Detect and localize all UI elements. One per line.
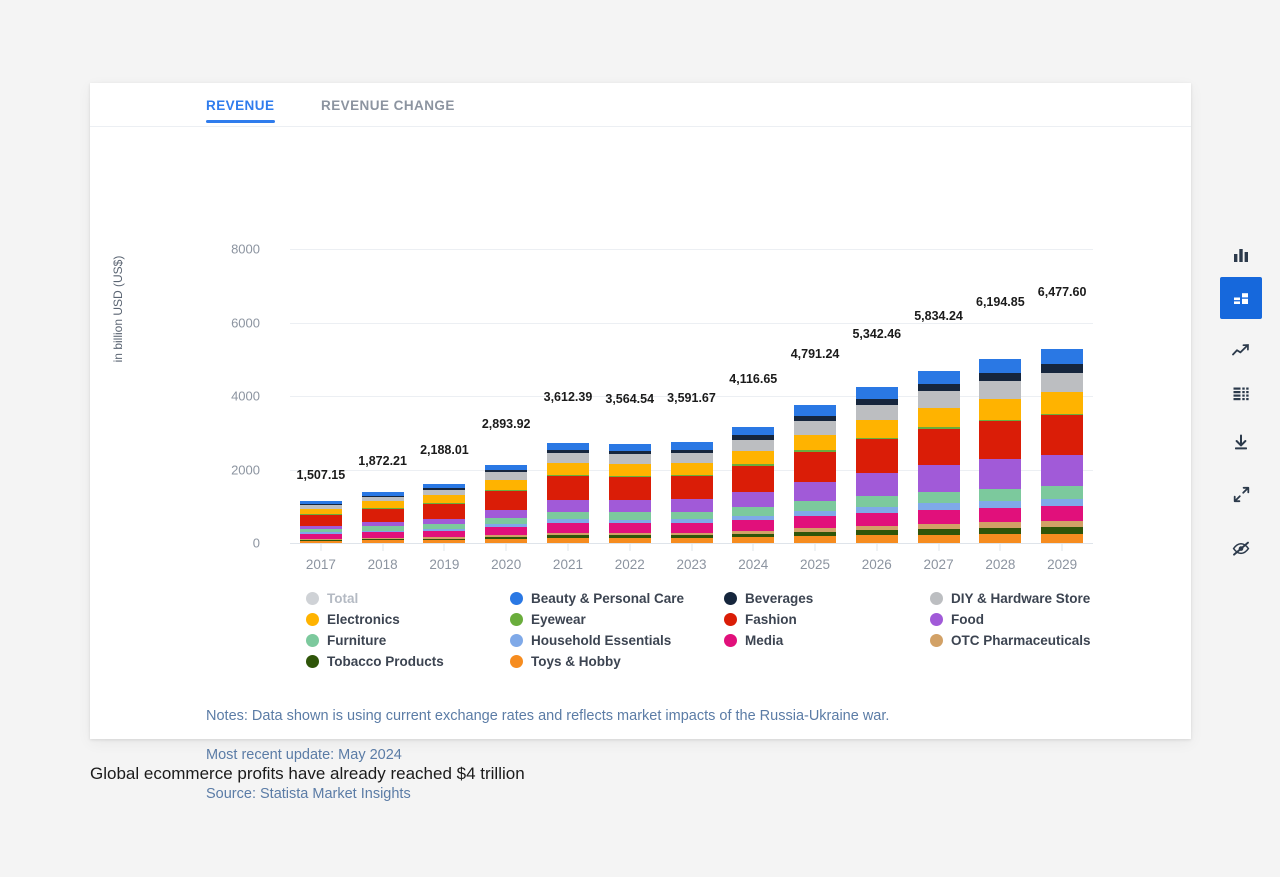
legend-swatch-icon — [510, 655, 523, 668]
bar-segment-beverages[interactable] — [979, 373, 1021, 381]
x-axis-label-2029: 2029 — [1047, 557, 1077, 572]
legend-item-beauty-personal-care[interactable]: Beauty & Personal Care — [510, 591, 684, 606]
bar-segment-diy-hardware-store[interactable] — [671, 453, 713, 463]
bar-segment-toys-hobby[interactable] — [1041, 534, 1083, 543]
legend-label: OTC Pharmaceuticals — [951, 633, 1091, 648]
legend-swatch-icon — [930, 592, 943, 605]
bar-segment-fashion[interactable] — [918, 429, 960, 465]
bar-segment-electronics[interactable] — [1041, 392, 1083, 413]
bar-segment-furniture[interactable] — [671, 512, 713, 520]
bar-total-label-2018: 1,872.21 — [358, 454, 407, 468]
bar-segment-food[interactable] — [1041, 455, 1083, 486]
bar-segment-media[interactable] — [856, 513, 898, 526]
x-axis-label-2026: 2026 — [862, 557, 892, 572]
bar-segment-media[interactable] — [794, 516, 836, 528]
bar-chart-icon — [1233, 246, 1250, 263]
bar-segment-food[interactable] — [547, 500, 589, 512]
legend-item-diy-hardware-store[interactable]: DIY & Hardware Store — [930, 591, 1090, 606]
legend-label: Household Essentials — [531, 633, 671, 648]
bar-column-2018[interactable] — [362, 249, 404, 543]
x-tick-2021 — [567, 543, 568, 551]
x-tick-2026 — [876, 543, 877, 551]
tab-active-underline — [206, 120, 275, 123]
x-tick-2028 — [1000, 543, 1001, 551]
legend-item-media[interactable]: Media — [724, 633, 783, 648]
x-axis-label-2019: 2019 — [429, 557, 459, 572]
line-chart-icon — [1232, 342, 1250, 359]
bar-segment-toys-hobby[interactable] — [979, 534, 1021, 543]
legend-label: Eyewear — [531, 612, 586, 627]
bar-segment-electronics[interactable] — [547, 463, 589, 475]
bar-segment-media[interactable] — [485, 527, 527, 536]
bar-column-2017[interactable] — [300, 249, 342, 543]
legend-label: Toys & Hobby — [531, 654, 621, 669]
legend-swatch-icon — [510, 592, 523, 605]
download-icon — [1233, 434, 1249, 451]
x-axis-label-2022: 2022 — [615, 557, 645, 572]
bar-segment-furniture[interactable] — [918, 492, 960, 503]
bar-segment-electronics[interactable] — [856, 420, 898, 437]
y-tick-6000: 6000 — [202, 315, 260, 330]
legend-label: Tobacco Products — [327, 654, 444, 669]
x-tick-2029 — [1062, 543, 1063, 551]
note-last-update: Most recent update: May 2024 — [206, 747, 889, 763]
legend-label: DIY & Hardware Store — [951, 591, 1090, 606]
bar-segment-fashion[interactable] — [423, 504, 465, 519]
x-axis-label-2018: 2018 — [368, 557, 398, 572]
bar-segment-diy-hardware-store[interactable] — [794, 421, 836, 434]
bar-segment-media[interactable] — [423, 531, 465, 538]
stacked-bar-button[interactable] — [1220, 277, 1262, 319]
legend-item-otc-pharmaceuticals[interactable]: OTC Pharmaceuticals — [930, 633, 1091, 648]
bar-total-label-2026: 5,342.46 — [852, 327, 901, 341]
bar-segment-media[interactable] — [979, 508, 1021, 523]
stacked-bar[interactable] — [671, 442, 713, 543]
legend-item-total[interactable]: Total — [306, 591, 358, 606]
y-tick-4000: 4000 — [202, 389, 260, 404]
bar-segment-fashion[interactable] — [732, 466, 774, 492]
note-source: Source: Statista Market Insights — [206, 786, 889, 802]
bar-total-label-2028: 6,194.85 — [976, 295, 1025, 309]
bar-segment-furniture[interactable] — [609, 512, 651, 520]
bar-segment-media[interactable] — [609, 523, 651, 533]
bar-segment-furniture[interactable] — [856, 496, 898, 507]
x-axis-label-2020: 2020 — [491, 557, 521, 572]
legend-swatch-icon — [306, 613, 319, 626]
legend-item-household-essentials[interactable]: Household Essentials — [510, 633, 671, 648]
legend-label: Fashion — [745, 612, 797, 627]
bar-segment-fashion[interactable] — [794, 452, 836, 482]
x-axis-label-2023: 2023 — [676, 557, 706, 572]
bar-segment-media[interactable] — [671, 523, 713, 533]
bar-segment-electronics[interactable] — [362, 501, 404, 508]
x-tick-2022 — [629, 543, 630, 551]
stacked-bar[interactable] — [856, 387, 898, 543]
stacked-bar[interactable] — [918, 371, 960, 543]
bar-segment-diy-hardware-store[interactable] — [856, 405, 898, 420]
legend-swatch-icon — [306, 655, 319, 668]
bar-segment-beauty-personal-care[interactable] — [732, 427, 774, 436]
bar-segment-media[interactable] — [1041, 506, 1083, 521]
legend-item-beverages[interactable]: Beverages — [724, 591, 813, 606]
bar-segment-beauty-personal-care[interactable] — [856, 387, 898, 399]
legend-item-furniture[interactable]: Furniture — [306, 633, 386, 648]
bar-segment-fashion[interactable] — [1041, 415, 1083, 454]
x-tick-2024 — [753, 543, 754, 551]
bar-segment-food[interactable] — [671, 499, 713, 512]
tab-revenue[interactable]: REVENUE — [206, 98, 274, 113]
bar-segment-electronics[interactable] — [609, 464, 651, 476]
bar-segment-furniture[interactable] — [794, 501, 836, 511]
stacked-bar-icon — [1233, 290, 1250, 307]
legend-item-tobacco-products[interactable]: Tobacco Products — [306, 654, 444, 669]
legend-swatch-icon — [510, 613, 523, 626]
x-axis-label-2028: 2028 — [985, 557, 1015, 572]
bar-segment-beauty-personal-care[interactable] — [671, 442, 713, 449]
bar-segment-electronics[interactable] — [423, 495, 465, 503]
bar-segment-beauty-personal-care[interactable] — [979, 359, 1021, 373]
bar-segment-beverages[interactable] — [1041, 364, 1083, 373]
chart-legend: TotalElectronicsFurnitureTobacco Product… — [90, 583, 1191, 675]
bar-segment-fashion[interactable] — [362, 509, 404, 522]
x-tick-2027 — [938, 543, 939, 551]
legend-label: Furniture — [327, 633, 386, 648]
bar-segment-electronics[interactable] — [918, 408, 960, 427]
eye-off-icon — [1232, 541, 1250, 556]
bar-segment-food[interactable] — [794, 482, 836, 502]
legend-item-eyewear[interactable]: Eyewear — [510, 612, 586, 627]
bar-segment-food[interactable] — [918, 465, 960, 492]
bar-segment-diy-hardware-store[interactable] — [485, 472, 527, 479]
bar-segment-food[interactable] — [979, 459, 1021, 488]
x-axis-label-2027: 2027 — [924, 557, 954, 572]
bar-segment-fashion[interactable] — [671, 476, 713, 499]
bar-column-2027[interactable] — [918, 249, 960, 543]
bar-segment-furniture[interactable] — [1041, 486, 1083, 498]
bar-segment-furniture[interactable] — [979, 489, 1021, 501]
y-tick-8000: 8000 — [202, 242, 260, 257]
bar-segment-fashion[interactable] — [485, 491, 527, 510]
legend-swatch-icon — [930, 634, 943, 647]
bar-chart-button[interactable] — [1220, 233, 1262, 275]
legend-label: Electronics — [327, 612, 400, 627]
bar-segment-household-essentials[interactable] — [979, 501, 1021, 508]
bar-segment-toys-hobby[interactable] — [918, 535, 960, 543]
y-axis-label: in billion USD (US$) — [111, 229, 125, 389]
bar-segment-beauty-personal-care[interactable] — [547, 443, 589, 450]
legend-label: Total — [327, 591, 358, 606]
bar-total-label-2021: 3,612.39 — [544, 390, 593, 404]
x-axis-label-2024: 2024 — [738, 557, 768, 572]
bar-segment-diy-hardware-store[interactable] — [732, 440, 774, 451]
bar-total-label-2025: 4,791.24 — [791, 347, 840, 361]
stacked-bar[interactable] — [979, 359, 1021, 544]
bar-column-2028[interactable] — [979, 249, 1021, 543]
legend-swatch-icon — [930, 613, 943, 626]
note-data-source: Notes: Data shown is using current excha… — [206, 708, 889, 724]
bar-segment-beauty-personal-care[interactable] — [1041, 349, 1083, 364]
bar-segment-electronics[interactable] — [732, 451, 774, 465]
legend-item-electronics[interactable]: Electronics — [306, 612, 400, 627]
page-caption: Global ecommerce profits have already re… — [90, 764, 525, 784]
legend-item-fashion[interactable]: Fashion — [724, 612, 797, 627]
y-tick-0: 0 — [202, 536, 260, 551]
statista-chart-card: REVENUE REVENUE CHANGE in billion USD (U… — [90, 83, 1191, 739]
bar-column-2025[interactable] — [794, 249, 836, 543]
x-tick-2019 — [444, 543, 445, 551]
x-tick-2017 — [320, 543, 321, 551]
bar-total-label-2022: 3,564.54 — [605, 392, 654, 406]
bar-total-label-2020: 2,893.92 — [482, 417, 531, 431]
bar-total-label-2027: 5,834.24 — [914, 309, 963, 323]
page-root: REVENUE REVENUE CHANGE in billion USD (U… — [0, 0, 1280, 877]
bar-segment-household-essentials[interactable] — [1041, 499, 1083, 507]
bar-segment-fashion[interactable] — [300, 515, 342, 526]
line-chart-button[interactable] — [1220, 329, 1262, 371]
legend-label: Food — [951, 612, 984, 627]
stacked-bar[interactable] — [300, 501, 342, 543]
bar-segment-fashion[interactable] — [609, 477, 651, 500]
download-button[interactable] — [1220, 421, 1262, 463]
bar-segment-electronics[interactable] — [485, 480, 527, 490]
legend-swatch-icon — [306, 634, 319, 647]
bar-segment-food[interactable] — [856, 473, 898, 497]
bar-segment-food[interactable] — [732, 492, 774, 508]
x-tick-2020 — [506, 543, 507, 551]
expand-icon — [1233, 486, 1250, 503]
bar-total-label-2019: 2,188.01 — [420, 443, 469, 457]
bar-segment-fashion[interactable] — [856, 439, 898, 472]
bar-column-2026[interactable] — [856, 249, 898, 543]
bar-segment-media[interactable] — [732, 520, 774, 531]
stacked-bar[interactable] — [362, 492, 404, 543]
bar-segment-electronics[interactable] — [979, 399, 1021, 419]
legend-label: Beverages — [745, 591, 813, 606]
bar-segment-beverages[interactable] — [918, 384, 960, 391]
bar-segment-household-essentials[interactable] — [918, 503, 960, 510]
x-axis-label-2021: 2021 — [553, 557, 583, 572]
bar-total-label-2024: 4,116.65 — [729, 372, 777, 386]
bar-segment-fashion[interactable] — [979, 421, 1021, 459]
chart-plot-area: in billion USD (US$) 02000400060008000 1… — [90, 127, 1191, 577]
stacked-bar[interactable] — [423, 484, 465, 543]
bar-segment-diy-hardware-store[interactable] — [1041, 373, 1083, 393]
bar-segment-diy-hardware-store[interactable] — [979, 381, 1021, 400]
stacked-bar[interactable] — [794, 405, 836, 543]
legend-swatch-icon — [724, 592, 737, 605]
bar-total-label-2023: 3,591.67 — [667, 391, 716, 405]
legend-swatch-icon — [724, 634, 737, 647]
legend-label: Media — [745, 633, 783, 648]
bar-segment-beauty-personal-care[interactable] — [794, 405, 836, 416]
bar-segment-electronics[interactable] — [671, 463, 713, 475]
bar-total-label-2029: 6,477.60 — [1038, 285, 1087, 299]
bar-segment-media[interactable] — [547, 523, 589, 533]
bar-segment-food[interactable] — [485, 510, 527, 518]
bar-segment-food[interactable] — [609, 500, 651, 512]
stacked-bar[interactable] — [609, 444, 651, 543]
bar-column-2024[interactable] — [732, 249, 774, 543]
bar-segment-toys-hobby[interactable] — [794, 536, 836, 543]
bar-segment-beauty-personal-care[interactable] — [918, 371, 960, 384]
bar-segment-furniture[interactable] — [732, 507, 774, 515]
bar-total-label-2017: 1,507.15 — [297, 468, 346, 482]
stacked-bar[interactable] — [1041, 349, 1083, 543]
bar-segment-diy-hardware-store[interactable] — [547, 453, 589, 463]
x-tick-2023 — [691, 543, 692, 551]
bar-segment-fashion[interactable] — [547, 476, 589, 500]
bar-segment-toys-hobby[interactable] — [856, 535, 898, 543]
bar-segment-diy-hardware-store[interactable] — [918, 391, 960, 408]
y-axis-ticks: 02000400060008000 — [202, 127, 260, 577]
bar-segment-electronics[interactable] — [794, 435, 836, 451]
x-axis-label-2025: 2025 — [800, 557, 830, 572]
legend-swatch-icon — [510, 634, 523, 647]
bar-segment-beauty-personal-care[interactable] — [609, 444, 651, 451]
bar-segment-tobacco-products[interactable] — [1041, 527, 1083, 534]
bar-column-2019[interactable] — [423, 249, 465, 543]
legend-item-toys-hobby[interactable]: Toys & Hobby — [510, 654, 621, 669]
stacked-bar[interactable] — [485, 465, 527, 543]
bar-segment-diy-hardware-store[interactable] — [609, 454, 651, 464]
bar-segment-furniture[interactable] — [547, 512, 589, 520]
legend-swatch-icon — [724, 613, 737, 626]
stacked-bar[interactable] — [732, 427, 774, 543]
x-tick-2025 — [815, 543, 816, 551]
expand-button[interactable] — [1220, 473, 1262, 515]
tab-bar: REVENUE REVENUE CHANGE — [90, 83, 1191, 127]
bar-segment-media[interactable] — [918, 510, 960, 524]
tab-revenue-change[interactable]: REVENUE CHANGE — [321, 98, 455, 113]
table-grid-button[interactable] — [1220, 373, 1262, 415]
stacked-bar[interactable] — [547, 443, 589, 543]
eye-off-button[interactable] — [1220, 527, 1262, 569]
x-axis-label-2017: 2017 — [306, 557, 336, 572]
legend-label: Beauty & Personal Care — [531, 591, 684, 606]
legend-item-food[interactable]: Food — [930, 612, 984, 627]
y-tick-2000: 2000 — [202, 462, 260, 477]
table-grid-icon — [1233, 387, 1250, 401]
bar-column-2020[interactable] — [485, 249, 527, 543]
legend-swatch-icon — [306, 592, 319, 605]
x-tick-2018 — [382, 543, 383, 551]
